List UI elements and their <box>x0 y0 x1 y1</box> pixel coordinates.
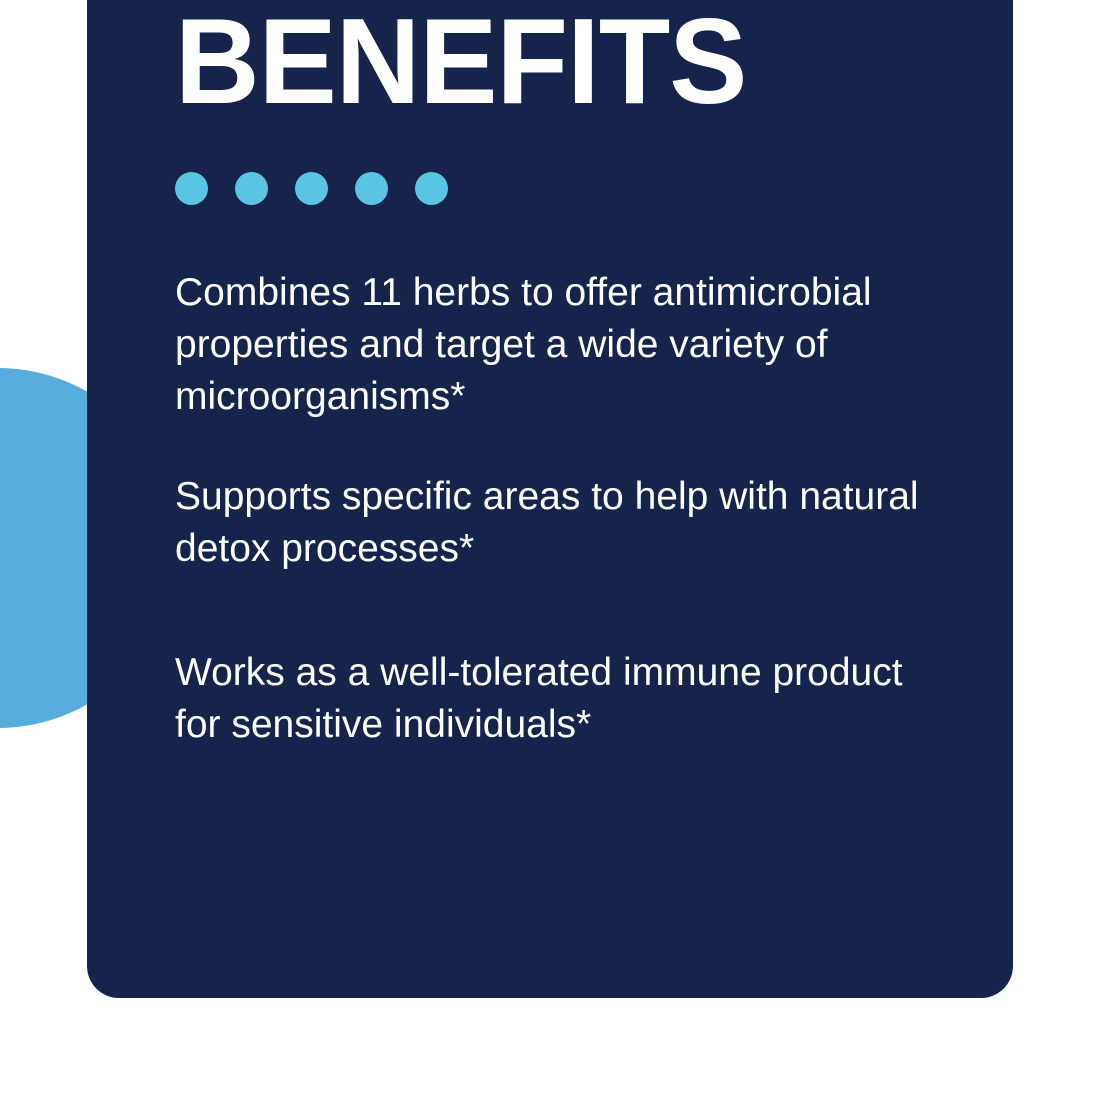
divider-dot-icon <box>295 172 328 205</box>
benefit-item: Supports specific areas to help with nat… <box>175 471 935 575</box>
benefit-item: Works as a well-tolerated immune product… <box>175 647 935 751</box>
benefits-list: Combines 11 herbs to offer antimicrobial… <box>175 267 935 751</box>
benefits-graphic: BENEFITS Combines 11 herbs to offer anti… <box>0 0 1100 1100</box>
divider-dot-icon <box>235 172 268 205</box>
dot-divider <box>175 172 935 205</box>
divider-dot-icon <box>355 172 388 205</box>
divider-dot-icon <box>415 172 448 205</box>
divider-dot-icon <box>175 172 208 205</box>
benefit-item: Combines 11 herbs to offer antimicrobial… <box>175 267 935 423</box>
benefits-card-content: BENEFITS Combines 11 herbs to offer anti… <box>175 0 935 751</box>
benefits-card: BENEFITS Combines 11 herbs to offer anti… <box>87 0 1013 998</box>
page-title: BENEFITS <box>175 0 905 122</box>
